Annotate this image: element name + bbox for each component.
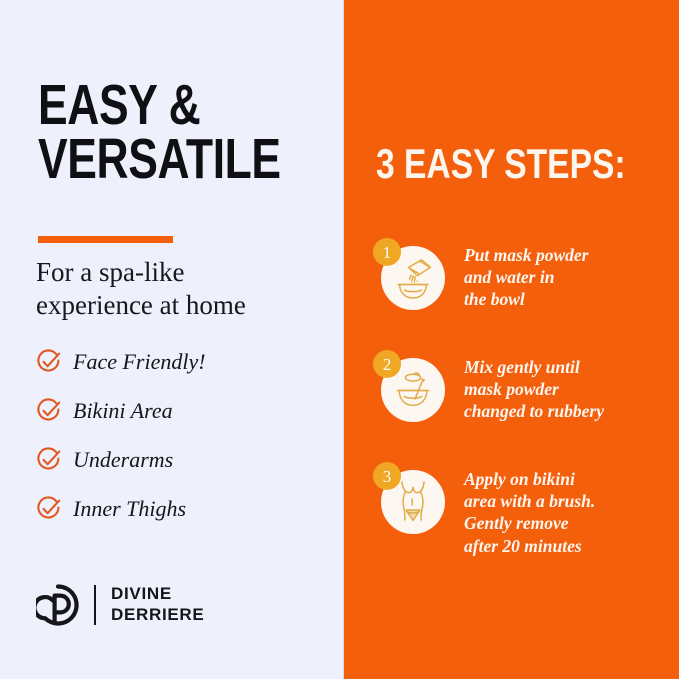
product-infographic: EASY & VERSATILE For a spa-like experien… bbox=[0, 0, 679, 679]
step-item: 2 Mix gently until mask powder changed t… bbox=[373, 350, 679, 430]
check-circle-icon bbox=[36, 398, 62, 424]
step-item: 3 Apply on bikini area with a brush. Gen… bbox=[373, 462, 679, 557]
subtitle: For a spa-like experience at home bbox=[36, 256, 326, 322]
step-item: 1 Put mask powder and water in the bowl bbox=[373, 238, 679, 318]
accent-rule bbox=[38, 236, 173, 243]
step-number-badge: 1 bbox=[373, 238, 401, 266]
step-text: Mix gently until mask powder changed to … bbox=[453, 350, 679, 423]
step-text: Apply on bikini area with a brush. Gentl… bbox=[453, 462, 679, 557]
step-icon-wrap: 2 bbox=[373, 350, 453, 430]
brand-name: DIVINE DERRIERE bbox=[111, 584, 204, 625]
divine-derriere-d-monogram-icon bbox=[36, 583, 80, 627]
steps-list: 1 Put mask powder and water in the bowl bbox=[373, 238, 679, 589]
benefits-list: Face Friendly! Bikini Area Underarms bbox=[36, 337, 336, 533]
list-item: Bikini Area bbox=[36, 386, 336, 435]
left-panel: EASY & VERSATILE For a spa-like experien… bbox=[0, 0, 343, 679]
list-item: Underarms bbox=[36, 435, 336, 484]
step-icon-wrap: 1 bbox=[373, 238, 453, 318]
check-circle-icon bbox=[36, 349, 62, 375]
panel-divider bbox=[343, 0, 344, 679]
steps-heading: 3 EASY STEPS: bbox=[376, 140, 626, 188]
list-item: Inner Thighs bbox=[36, 484, 336, 533]
list-item-label: Inner Thighs bbox=[73, 498, 186, 520]
brand-logo: DIVINE DERRIERE bbox=[36, 583, 204, 627]
list-item: Face Friendly! bbox=[36, 337, 336, 386]
step-number-badge: 3 bbox=[373, 462, 401, 490]
list-item-label: Underarms bbox=[73, 449, 173, 471]
page-title: EASY & VERSATILE bbox=[38, 78, 264, 186]
step-number-badge: 2 bbox=[373, 350, 401, 378]
logo-divider bbox=[94, 585, 96, 625]
check-circle-icon bbox=[36, 447, 62, 473]
step-icon-wrap: 3 bbox=[373, 462, 453, 542]
step-text: Put mask powder and water in the bowl bbox=[453, 238, 679, 311]
list-item-label: Face Friendly! bbox=[73, 351, 206, 373]
check-circle-icon bbox=[36, 496, 62, 522]
list-item-label: Bikini Area bbox=[73, 400, 173, 422]
right-panel: 3 EASY STEPS: bbox=[343, 0, 679, 679]
